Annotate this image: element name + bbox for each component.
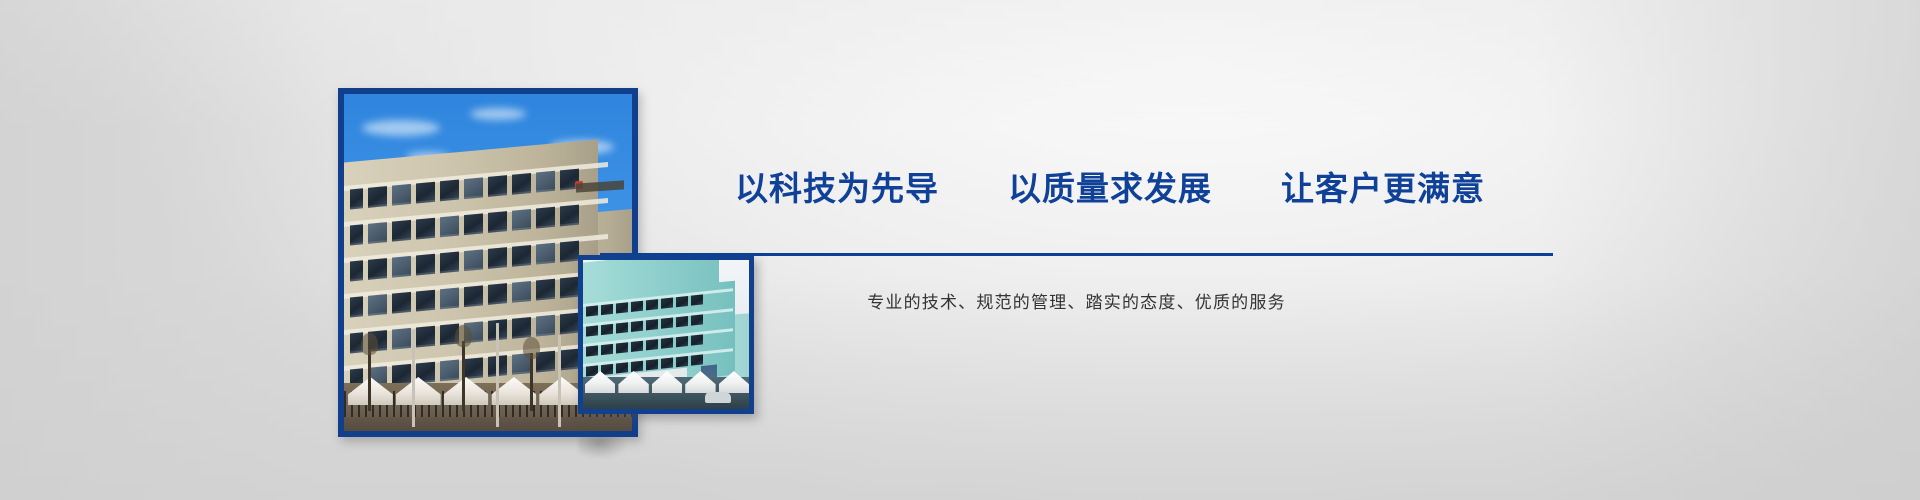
window: [536, 243, 555, 265]
window: [536, 171, 555, 193]
window: [631, 341, 643, 352]
secondary-office-building-photo: [578, 255, 754, 414]
window: [586, 345, 598, 356]
window: [350, 188, 363, 209]
window: [646, 319, 658, 330]
window: [661, 318, 673, 329]
window: [601, 344, 613, 355]
window: [392, 184, 411, 206]
window: [676, 336, 688, 347]
tent: [618, 371, 648, 393]
window: [691, 354, 703, 365]
window: [512, 317, 531, 339]
window: [616, 342, 628, 353]
window: [392, 292, 411, 314]
window: [464, 177, 483, 199]
window: [440, 288, 459, 310]
tent: [652, 371, 682, 393]
banner-headline: 以科技为先导 以质量求发展 让客户更满意: [735, 172, 1485, 205]
window: [350, 224, 363, 245]
window: [416, 326, 435, 348]
window: [560, 277, 579, 299]
window: [392, 220, 411, 242]
window: [416, 290, 435, 312]
tent: [585, 371, 615, 393]
window: [586, 325, 598, 336]
window: [536, 207, 555, 229]
window: [560, 349, 579, 371]
window: [416, 254, 435, 276]
window: [416, 182, 435, 204]
tent: [685, 371, 715, 393]
light-pole: [558, 335, 561, 427]
window: [536, 279, 555, 301]
window: [488, 211, 507, 233]
window: [676, 316, 688, 327]
secondary-photo-content: [583, 260, 749, 409]
window: [512, 281, 531, 303]
window: [368, 258, 387, 280]
banner-subtitle: 专业的技术、规范的管理、踏实的态度、优质的服务: [600, 288, 1553, 313]
window: [616, 322, 628, 333]
window: [691, 314, 703, 325]
light-pole: [412, 331, 415, 427]
window: [488, 283, 507, 305]
headline-segment-2: 以质量求发展: [1008, 172, 1212, 205]
window: [560, 205, 579, 227]
window: [440, 216, 459, 238]
window: [440, 180, 459, 202]
window: [350, 260, 363, 281]
background-side-vignette: [0, 0, 1920, 500]
window: [488, 175, 507, 197]
window: [368, 294, 387, 316]
window: [464, 285, 483, 307]
window: [560, 241, 579, 263]
window: [464, 213, 483, 235]
window: [392, 256, 411, 278]
window: [440, 252, 459, 274]
window: [512, 245, 531, 267]
window: [676, 356, 688, 367]
window: [646, 339, 658, 350]
light-pole: [496, 323, 499, 427]
headline-segment-3: 让客户更满意: [1281, 172, 1485, 205]
window: [512, 209, 531, 231]
window: [536, 315, 555, 337]
window: [631, 321, 643, 332]
cloud-shape: [362, 120, 440, 136]
window: [661, 338, 673, 349]
window: [601, 324, 613, 335]
headline-segment-1: 以科技为先导: [735, 172, 939, 205]
parked-car: [705, 392, 731, 403]
cloud-shape: [470, 108, 526, 120]
tent-row: [583, 367, 749, 393]
tree: [368, 349, 371, 411]
window: [368, 186, 387, 208]
window: [691, 334, 703, 345]
window: [560, 313, 579, 335]
window: [416, 218, 435, 240]
window: [464, 249, 483, 271]
window: [350, 296, 363, 317]
tent: [396, 377, 441, 405]
window: [512, 173, 531, 195]
window: [368, 222, 387, 244]
window: [392, 328, 411, 350]
tree: [462, 341, 465, 411]
window: [586, 305, 598, 316]
tree: [530, 353, 533, 411]
tent: [719, 371, 749, 393]
company-hero-banner: 以科技为先导 以质量求发展 让客户更满意 专业的技术、规范的管理、踏实的态度、优…: [0, 0, 1920, 500]
window: [488, 247, 507, 269]
tent: [444, 377, 489, 405]
